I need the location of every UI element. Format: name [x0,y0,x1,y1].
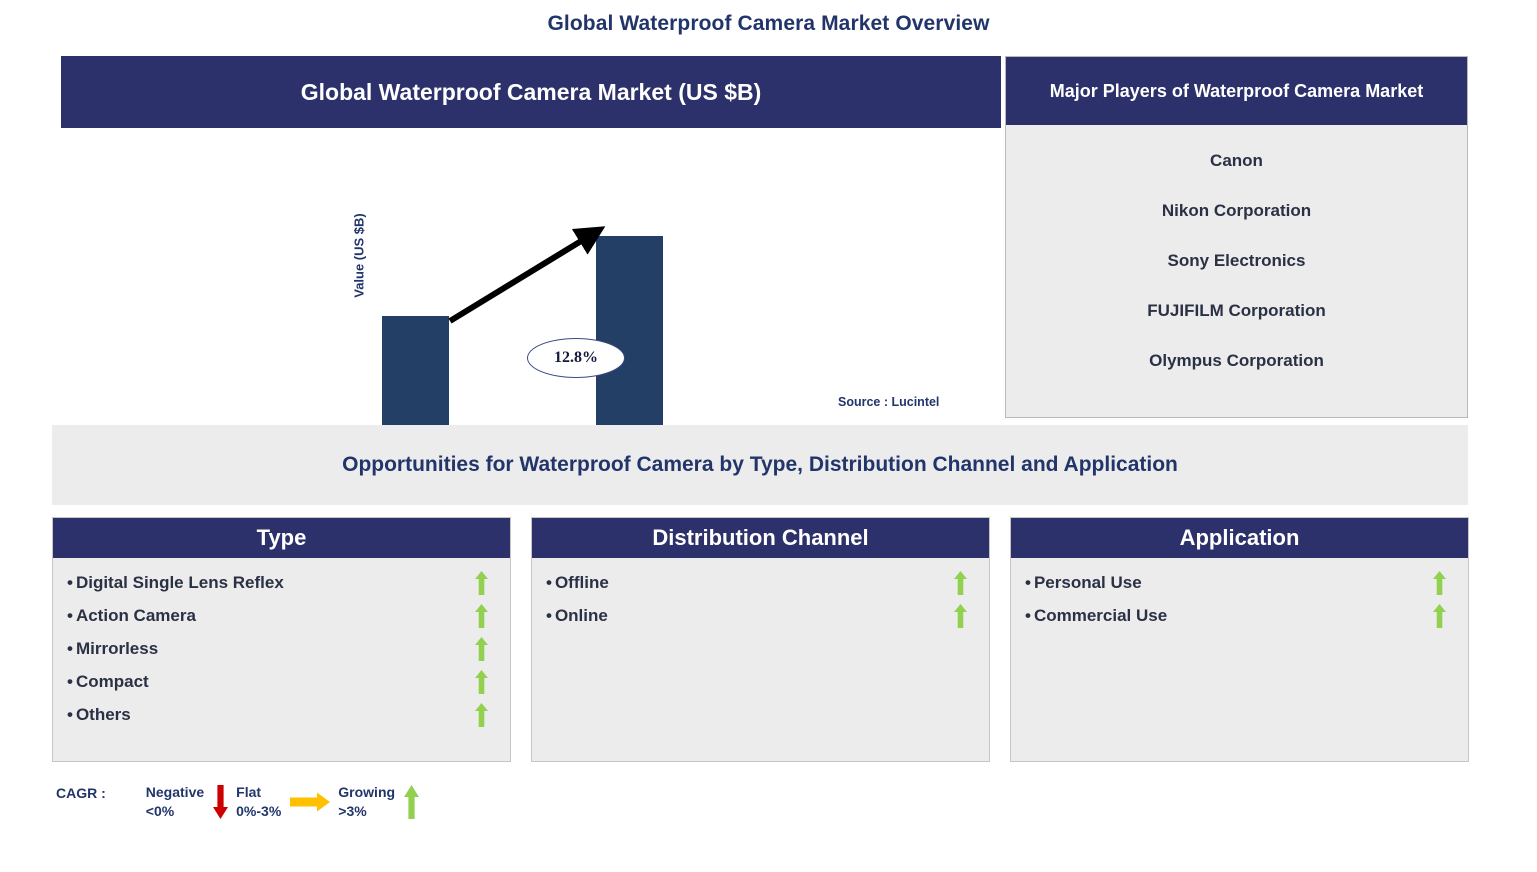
chart-panel-header: Global Waterproof Camera Market (US $B) [61,56,1001,128]
page-title: Global Waterproof Camera Market Overview [0,12,1537,36]
arrow-up-icon [954,571,967,595]
cagr-legend-flat-text: Flat 0%-3% [236,783,281,821]
bullet-icon: • [546,606,552,625]
cagr-legend-negative-text: Negative <0% [146,783,204,821]
list-item-label: •Compact [67,672,149,692]
market-chart-panel: Global Waterproof Camera Market (US $B) … [61,56,1001,418]
cagr-callout: 12.8% [527,338,625,378]
column-items-distribution-channel: •Offline •Online [532,558,989,632]
bullet-icon: • [67,639,73,658]
bullet-icon: • [1025,573,1031,592]
list-item: •Others [67,698,496,731]
list-item-label: •Personal Use [1025,573,1142,593]
list-item: •Action Camera [67,599,496,632]
opportunities-banner-text: Opportunities for Waterproof Camera by T… [342,453,1178,477]
arrow-up-icon [404,785,419,819]
major-players-header: Major Players of Waterproof Camera Marke… [1006,57,1467,125]
list-item: •Compact [67,665,496,698]
list-item-label: •Offline [546,573,609,593]
column-header-distribution-channel: Distribution Channel [532,518,989,558]
arrow-up-icon [475,703,488,727]
list-item: Nikon Corporation [1006,201,1467,221]
cagr-legend-growing: Growing >3% [338,783,419,821]
major-players-panel: Major Players of Waterproof Camera Marke… [1005,56,1468,418]
arrow-up-icon [475,604,488,628]
opportunity-column-application: Application •Personal Use •Commercial Us… [1010,517,1469,762]
cagr-legend-title: CAGR : [56,783,106,801]
list-item: Olympus Corporation [1006,351,1467,371]
arrow-up-icon [1433,571,1446,595]
list-item: FUJIFILM Corporation [1006,301,1467,321]
list-item-label: •Commercial Use [1025,606,1167,626]
list-item: •Offline [546,566,975,599]
arrow-up-icon [1433,604,1446,628]
column-header-application: Application [1011,518,1468,558]
opportunity-column-distribution-channel: Distribution Channel •Offline •Online [531,517,990,762]
arrow-up-icon [954,604,967,628]
opportunity-column-type: Type •Digital Single Lens Reflex •Action… [52,517,511,762]
column-items-application: •Personal Use •Commercial Use [1011,558,1468,632]
list-item: Canon [1006,151,1467,171]
bullet-icon: • [67,606,73,625]
source-note: Source : Lucintel [838,395,939,409]
column-header-type: Type [53,518,510,558]
arrow-up-icon [475,670,488,694]
bullet-icon: • [67,672,73,691]
list-item-label: •Digital Single Lens Reflex [67,573,284,593]
arrow-down-icon [213,785,228,819]
list-item: Sony Electronics [1006,251,1467,271]
list-item: •Personal Use [1025,566,1454,599]
list-item: •Commercial Use [1025,599,1454,632]
bullet-icon: • [546,573,552,592]
cagr-legend-negative: Negative <0% [146,783,228,821]
bullet-icon: • [67,705,73,724]
list-item: •Digital Single Lens Reflex [67,566,496,599]
bullet-icon: • [67,573,73,592]
column-items-type: •Digital Single Lens Reflex •Action Came… [53,558,510,731]
list-item-label: •Others [67,705,131,725]
cagr-legend-growing-text: Growing >3% [338,783,395,821]
list-item-label: •Online [546,606,608,626]
list-item: •Mirrorless [67,632,496,665]
arrow-up-icon [475,637,488,661]
list-item-label: •Mirrorless [67,639,158,659]
growth-arrow-icon [310,188,735,439]
arrow-right-icon [290,791,330,813]
cagr-legend-flat: Flat 0%-3% [236,783,330,821]
list-item: •Online [546,599,975,632]
opportunities-banner: Opportunities for Waterproof Camera by T… [52,425,1468,505]
bullet-icon: • [1025,606,1031,625]
arrow-up-icon [475,571,488,595]
list-item-label: •Action Camera [67,606,196,626]
major-players-list: Canon Nikon Corporation Sony Electronics… [1006,125,1467,417]
cagr-legend: CAGR : Negative <0% Flat 0%-3% Growing >… [56,783,427,821]
chart-plot-area: Value (US $B) 12.8% 2025 2031 [61,128,1001,418]
